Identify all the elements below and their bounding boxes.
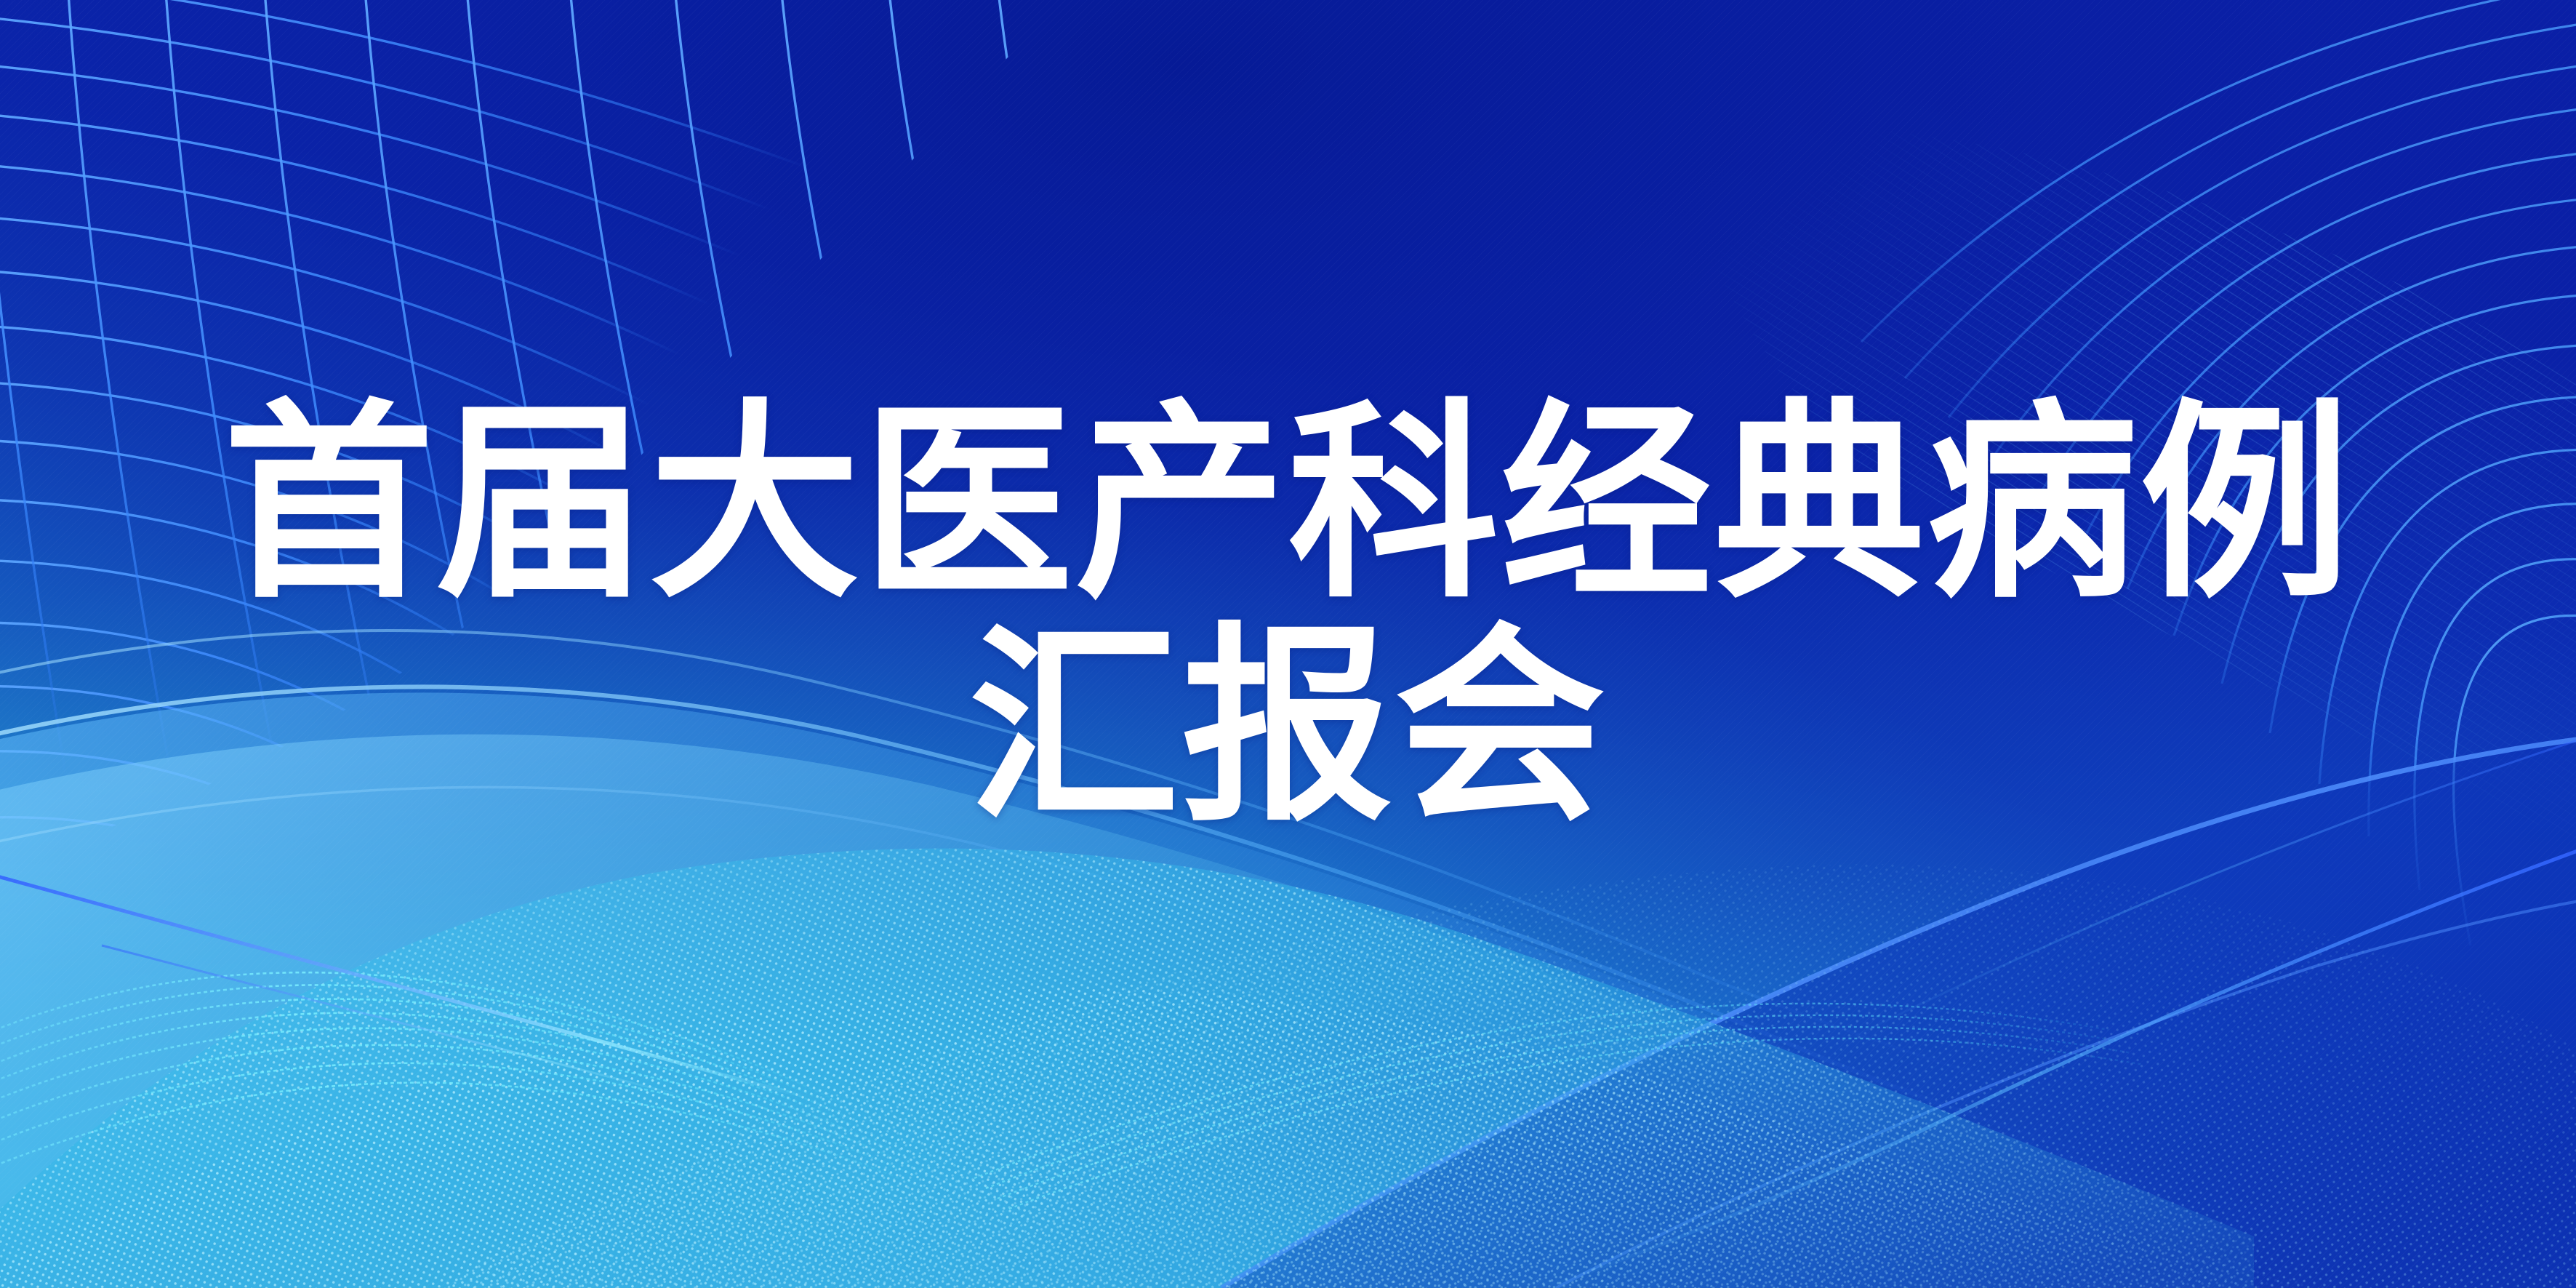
poster-banner: 首届大医产科经典病例 汇报会 bbox=[0, 0, 2576, 1288]
poster-title-line-2: 汇报会 bbox=[0, 616, 2576, 839]
poster-title-block: 首届大医产科经典病例 汇报会 bbox=[0, 393, 2576, 840]
poster-title-line-1: 首届大医产科经典病例 bbox=[0, 393, 2576, 616]
